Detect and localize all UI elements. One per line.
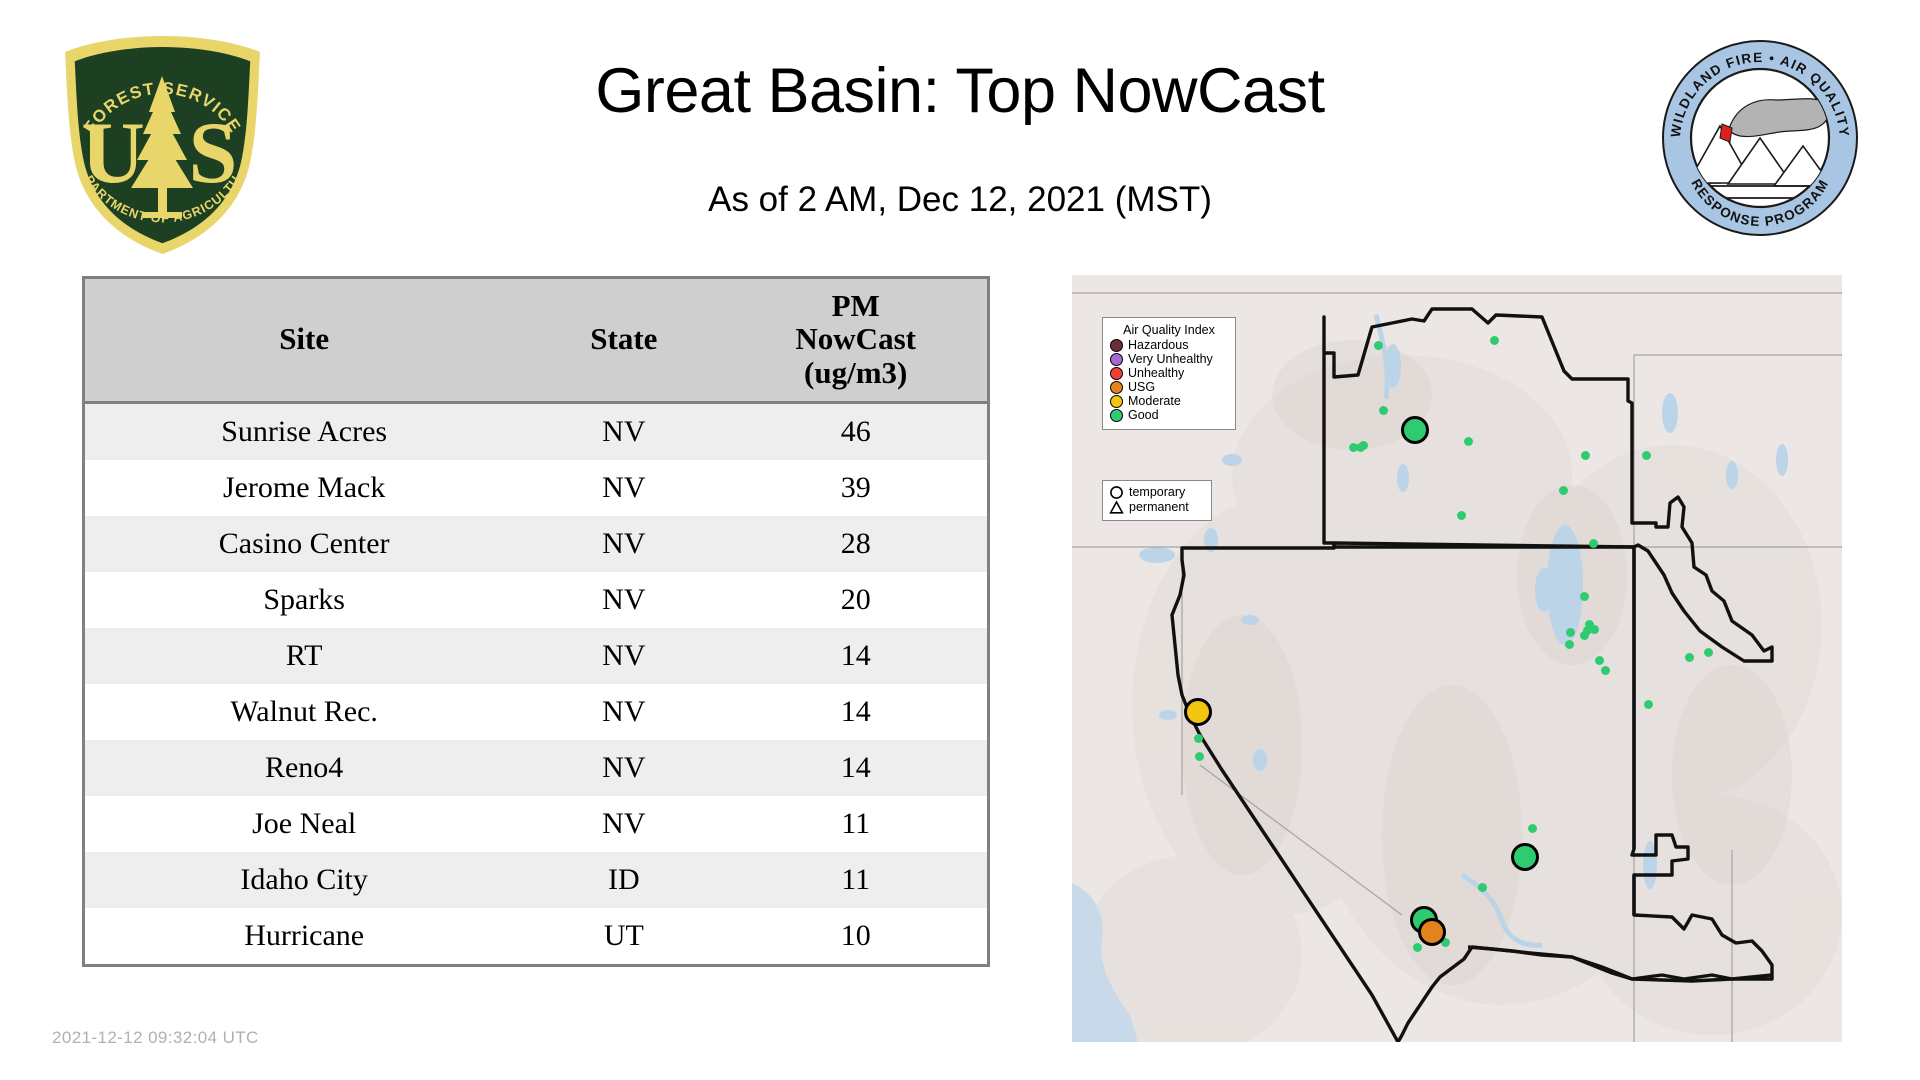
cell-site: Sunrise Acres [85,403,523,461]
aqi-legend-swatch [1110,395,1123,408]
station-type-legend: temporary permanent [1102,480,1212,521]
forest-service-logo: U S FOREST SERVICE DEPARTMENT OF AGRICUL… [55,30,270,260]
map-monitor-dot[interactable] [1464,437,1473,446]
cell-site: Jerome Mack [85,460,523,516]
aqi-legend-label: Very Unhealthy [1128,353,1213,366]
generation-timestamp: 2021-12-12 09:32:04 UTC [52,1028,259,1048]
aqi-legend-row: Moderate [1110,395,1228,408]
table-row: SparksNV20 [85,572,987,628]
map-monitor-dot[interactable] [1585,620,1594,629]
map-monitor-dot[interactable] [1374,341,1383,350]
aqi-legend-row: Very Unhealthy [1110,353,1228,366]
column-header-site: Site [85,279,523,403]
aqi-legend-row: Hazardous [1110,339,1228,352]
great-basin-aqi-map[interactable]: Air Quality Index HazardousVery Unhealth… [1072,275,1842,1042]
cell-pm: 14 [724,628,987,684]
column-header-pm-line3: (ug/m3) [728,356,983,389]
cell-state: NV [523,572,724,628]
column-header-pm-nowcast: PM NowCast (ug/m3) [724,279,987,403]
map-monitor-dot[interactable] [1595,656,1604,665]
cell-state: NV [523,516,724,572]
map-monitor-dot[interactable] [1478,883,1487,892]
column-header-pm-line2: NowCast [728,322,983,355]
aqi-legend-swatch [1110,353,1123,366]
legend-label-permanent: permanent [1129,501,1189,514]
map-monitor-dot[interactable] [1457,511,1466,520]
map-monitor-dot[interactable] [1528,824,1537,833]
cell-state: NV [523,796,724,852]
map-monitor-dot[interactable] [1565,640,1574,649]
cell-pm: 10 [724,908,987,964]
aqi-legend: Air Quality Index HazardousVery Unhealth… [1102,317,1236,430]
map-monitor-dot[interactable] [1601,666,1610,675]
cell-site: Joe Neal [85,796,523,852]
map-monitor-dot[interactable] [1580,592,1589,601]
map-monitor-dot[interactable] [1359,441,1368,450]
cell-site: Idaho City [85,852,523,908]
map-highlighted-site-marker[interactable] [1511,843,1539,871]
cell-state: UT [523,908,724,964]
map-monitor-dot[interactable] [1685,653,1694,662]
cell-pm: 46 [724,403,987,461]
column-header-pm-line1: PM [728,289,983,322]
cell-site: Casino Center [85,516,523,572]
cell-pm: 14 [724,684,987,740]
table-row: Idaho CityID11 [85,852,987,908]
cell-state: ID [523,852,724,908]
table-row: Walnut Rec.NV14 [85,684,987,740]
table-row: Sunrise AcresNV46 [85,403,987,461]
cell-pm: 20 [724,572,987,628]
aqi-legend-row: Good [1110,409,1228,422]
table-row: Reno4NV14 [85,740,987,796]
cell-state: NV [523,628,724,684]
cell-state: NV [523,460,724,516]
cell-pm: 11 [724,852,987,908]
aqi-legend-label: Hazardous [1128,339,1188,352]
column-header-state: State [523,279,724,403]
page-title: Great Basin: Top NowCast [280,58,1640,124]
cell-site: Reno4 [85,740,523,796]
aqi-legend-label: Good [1128,409,1159,422]
cell-state: NV [523,403,724,461]
aqi-legend-label: USG [1128,381,1155,394]
cell-site: RT [85,628,523,684]
map-monitor-dot[interactable] [1566,628,1575,637]
cell-site: Sparks [85,572,523,628]
map-monitor-dot[interactable] [1644,700,1653,709]
aqi-legend-label: Moderate [1128,395,1181,408]
cell-pm: 39 [724,460,987,516]
wildland-fire-air-quality-icon: WILDLAND FIRE • AIR QUALITY RESPONSE PRO… [1660,38,1860,238]
table-header-row: Site State PM NowCast (ug/m3) [85,279,987,403]
aqi-legend-title: Air Quality Index [1110,323,1228,337]
top-nowcast-table: Site State PM NowCast (ug/m3) Sunrise Ac… [82,276,990,967]
cell-pm: 14 [724,740,987,796]
table-row: RTNV14 [85,628,987,684]
map-monitor-dot[interactable] [1195,752,1204,761]
cell-pm: 28 [724,516,987,572]
cell-site: Hurricane [85,908,523,964]
map-monitor-dot[interactable] [1349,443,1358,452]
circle-icon [1109,485,1124,500]
triangle-icon [1109,500,1124,515]
aqi-legend-row: Unhealthy [1110,367,1228,380]
aqi-legend-swatch [1110,409,1123,422]
table-row: Jerome MackNV39 [85,460,987,516]
cell-state: NV [523,740,724,796]
table-row: Joe NealNV11 [85,796,987,852]
map-monitor-dot[interactable] [1580,631,1589,640]
cell-pm: 11 [724,796,987,852]
aqi-legend-label: Unhealthy [1128,367,1184,380]
cell-site: Walnut Rec. [85,684,523,740]
wfaqrp-logo: WILDLAND FIRE • AIR QUALITY RESPONSE PRO… [1660,38,1860,238]
map-monitor-dot[interactable] [1559,486,1568,495]
table-row: HurricaneUT10 [85,908,987,964]
aqi-legend-swatch [1110,381,1123,394]
map-monitor-dot[interactable] [1379,406,1388,415]
map-monitor-dot[interactable] [1490,336,1499,345]
map-monitor-dot[interactable] [1581,451,1590,460]
map-highlighted-site-marker[interactable] [1184,698,1212,726]
map-monitor-dot[interactable] [1642,451,1651,460]
legend-label-temporary: temporary [1129,486,1185,499]
forest-service-shield-icon: U S FOREST SERVICE DEPARTMENT OF AGRICUL… [55,30,270,260]
cell-state: NV [523,684,724,740]
map-monitor-dot[interactable] [1194,734,1203,743]
aqi-legend-swatch [1110,339,1123,352]
aqi-legend-row: USG [1110,381,1228,394]
legend-row-permanent: permanent [1109,500,1205,515]
map-monitor-dot[interactable] [1413,943,1422,952]
table-row: Casino CenterNV28 [85,516,987,572]
map-highlighted-site-marker[interactable] [1401,416,1429,444]
map-highlighted-site-marker[interactable] [1418,918,1446,946]
map-monitor-dot[interactable] [1589,539,1598,548]
page-subtitle: As of 2 AM, Dec 12, 2021 (MST) [280,180,1640,220]
map-monitor-dot[interactable] [1704,648,1713,657]
legend-row-temporary: temporary [1109,485,1205,500]
aqi-legend-swatch [1110,367,1123,380]
